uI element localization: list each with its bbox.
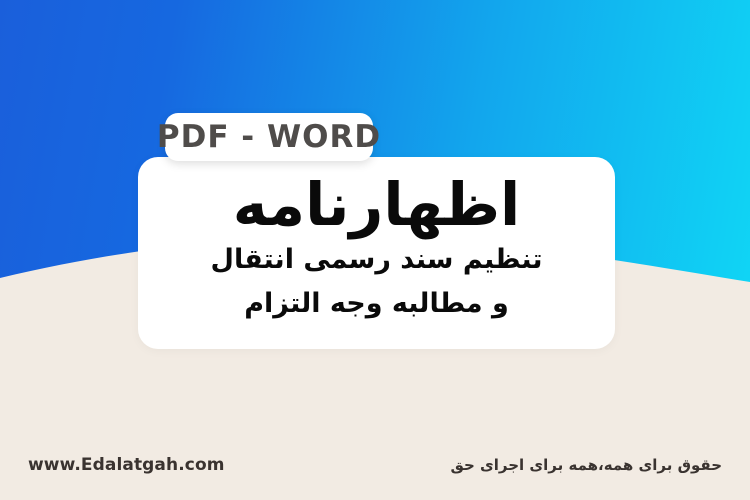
footer-tagline: حقوق برای همه،همه برای اجرای حق xyxy=(450,456,722,474)
website-url: www.Edalatgah.com xyxy=(28,455,225,475)
format-badge: PDF - WORD xyxy=(165,113,373,161)
format-badge-label: PDF - WORD xyxy=(157,122,381,153)
poster-canvas: اظهارنامه تنظیم سند رسمی انتقال و مطالبه… xyxy=(0,0,750,500)
subtitle-line-1: تنظیم سند رسمی انتقال xyxy=(211,243,543,277)
subtitle-line-2: و مطالبه وجه التزام xyxy=(244,287,509,321)
page-title: اظهارنامه xyxy=(233,173,520,237)
card-text-block: اظهارنامه تنظیم سند رسمی انتقال و مطالبه… xyxy=(138,157,615,349)
